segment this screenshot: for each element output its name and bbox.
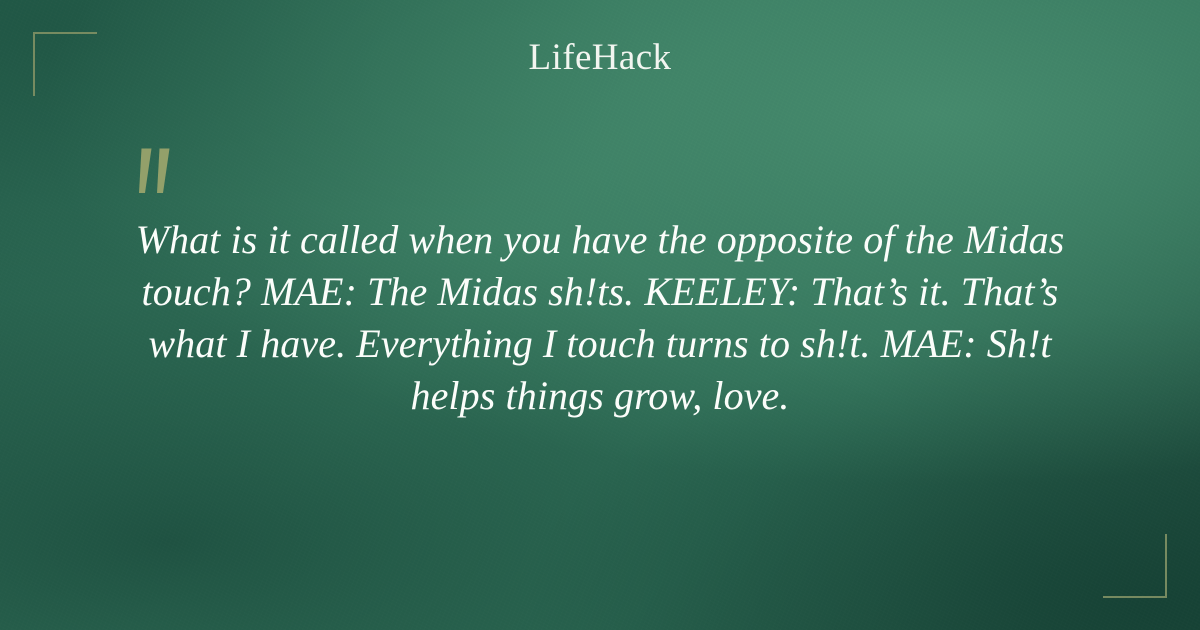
corner-bracket-bottom-right-icon xyxy=(1103,534,1167,598)
quotation-mark-icon xyxy=(129,146,185,196)
quote-card: LifeHack What is it called when you have… xyxy=(0,0,1200,630)
brand-logo: LifeHack xyxy=(0,38,1200,79)
quote-text: What is it called when you have the oppo… xyxy=(112,214,1088,422)
